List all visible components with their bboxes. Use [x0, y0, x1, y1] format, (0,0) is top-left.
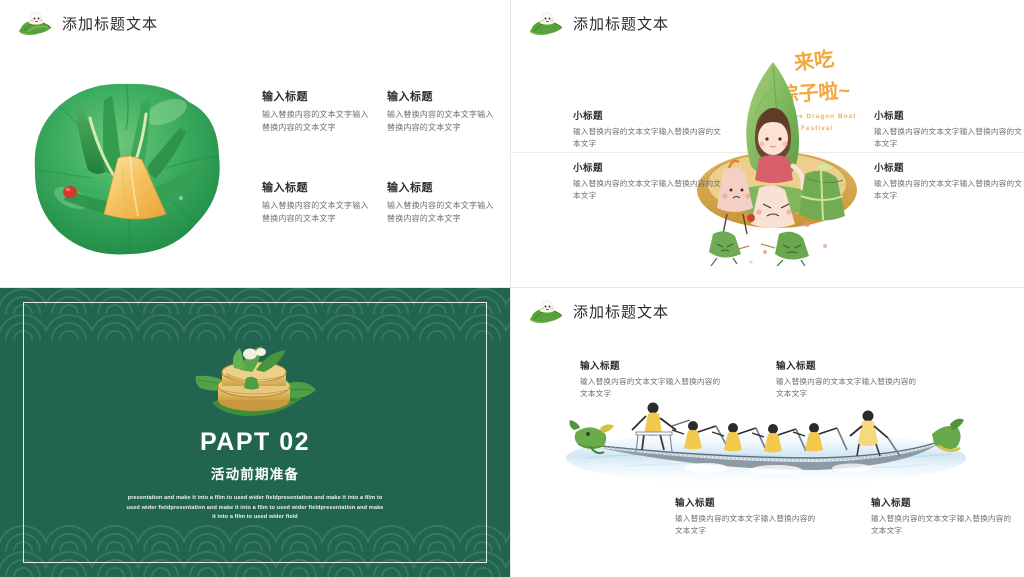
- page-title: 添加标题文本: [62, 13, 158, 34]
- block-body: 输入替换内容的文本文字输入替换内容的文本文字: [776, 376, 921, 401]
- block-heading: 输入标题: [387, 179, 497, 195]
- text-block: 输入标题 输入替换内容的文本文字输入替换内容的文本文字: [871, 495, 1016, 538]
- section-title: 活动前期准备: [0, 463, 510, 483]
- slide-thumbnail-2[interactable]: 添加标题文本 来吃 粽子啦~: [511, 0, 1024, 288]
- block-heading: 输入标题: [675, 495, 820, 509]
- block-heading: 输入标题: [262, 179, 372, 195]
- slide-thumbnail-4[interactable]: 添加标题文本: [511, 288, 1024, 577]
- text-block: 小标题 输入替换内容的文本文字输入替换内容的文本文字: [573, 160, 723, 203]
- text-block: 小标题 输入替换内容的文本文字输入替换内容的文本文字: [874, 108, 1024, 151]
- svg-text:The Dragon Boat: The Dragon Boat: [789, 113, 856, 120]
- block-body: 输入替换内容的文本文字输入替换内容的文本文字: [387, 200, 497, 226]
- block-body: 输入替换内容的文本文字输入替换内容的文本文字: [874, 178, 1024, 203]
- slide1-text-blocks: 输入标题 输入替换内容的文本文字输入替换内容的文本文字 输入标题 输入替换内容的…: [262, 88, 497, 226]
- block-body: 输入替换内容的文本文字输入替换内容的文本文字: [262, 109, 372, 135]
- block-heading: 输入标题: [871, 495, 1016, 509]
- block-heading: 小标题: [573, 160, 723, 174]
- lotus-leaf-zongzi-illustration: [26, 78, 231, 263]
- text-block: 输入标题 输入替换内容的文本文字输入替换内容的文本文字: [387, 179, 497, 226]
- bamboo-steamer-zongzi-illustration: [190, 340, 320, 420]
- block-heading: 输入标题: [580, 358, 725, 372]
- slide1-header: 添加标题文本: [18, 10, 158, 36]
- svg-text:Festival: Festival: [801, 125, 833, 132]
- slide4-header: 添加标题文本: [529, 298, 669, 324]
- block-heading: 输入标题: [262, 88, 372, 104]
- text-block: 输入标题 输入替换内容的文本文字输入替换内容的文本文字: [776, 358, 921, 401]
- block-body: 输入替换内容的文本文字输入替换内容的文本文字: [387, 109, 497, 135]
- block-heading: 输入标题: [387, 88, 497, 104]
- svg-text:来吃: 来吃: [792, 46, 836, 75]
- block-body: 输入替换内容的文本文字输入替换内容的文本文字: [874, 126, 1024, 151]
- girl-in-zongzi-basket-illustration: 来吃 粽子啦~ The Dragon Boat Festival: [677, 38, 877, 266]
- block-body: 输入替换内容的文本文字输入替换内容的文本文字: [573, 126, 723, 151]
- slide-deck-grid: 添加标题文本: [0, 0, 1024, 577]
- text-block: 输入标题 输入替换内容的文本文字输入替换内容的文本文字: [675, 495, 820, 538]
- block-heading: 输入标题: [776, 358, 921, 372]
- page-title: 添加标题文本: [573, 13, 669, 34]
- block-heading: 小标题: [573, 108, 723, 122]
- zongzi-mascot-icon: [18, 10, 54, 36]
- dragon-boat-rowing-illustration: [566, 400, 969, 490]
- text-block: 输入标题 输入替换内容的文本文字输入替换内容的文本文字: [580, 358, 725, 401]
- slide2-header: 添加标题文本: [529, 10, 669, 36]
- section-number: PAPT 02: [0, 428, 510, 457]
- page-title: 添加标题文本: [573, 301, 669, 322]
- zongzi-mascot-icon: [529, 10, 565, 36]
- block-heading: 小标题: [874, 108, 1024, 122]
- block-body: 输入替换内容的文本文字输入替换内容的文本文字: [675, 513, 820, 538]
- slide-thumbnail-1[interactable]: 添加标题文本: [0, 0, 511, 288]
- text-block: 小标题 输入替换内容的文本文字输入替换内容的文本文字: [573, 108, 723, 151]
- slide-thumbnail-3[interactable]: PAPT 02 活动前期准备 presentation and make it …: [0, 288, 511, 577]
- block-body: 输入替换内容的文本文字输入替换内容的文本文字: [262, 200, 372, 226]
- text-block: 小标题 输入替换内容的文本文字输入替换内容的文本文字: [874, 160, 1024, 203]
- block-heading: 小标题: [874, 160, 1024, 174]
- text-block: 输入标题 输入替换内容的文本文字输入替换内容的文本文字: [262, 88, 372, 135]
- text-block: 输入标题 输入替换内容的文本文字输入替换内容的文本文字: [387, 88, 497, 135]
- block-body: 输入替换内容的文本文字输入替换内容的文本文字: [573, 178, 723, 203]
- section-description: presentation and make it into a film to …: [124, 494, 386, 523]
- slide3-text: PAPT 02 活动前期准备 presentation and make it …: [0, 428, 510, 523]
- zongzi-mascot-icon: [529, 298, 565, 324]
- text-block: 输入标题 输入替换内容的文本文字输入替换内容的文本文字: [262, 179, 372, 226]
- block-body: 输入替换内容的文本文字输入替换内容的文本文字: [580, 376, 725, 401]
- block-body: 输入替换内容的文本文字输入替换内容的文本文字: [871, 513, 1016, 538]
